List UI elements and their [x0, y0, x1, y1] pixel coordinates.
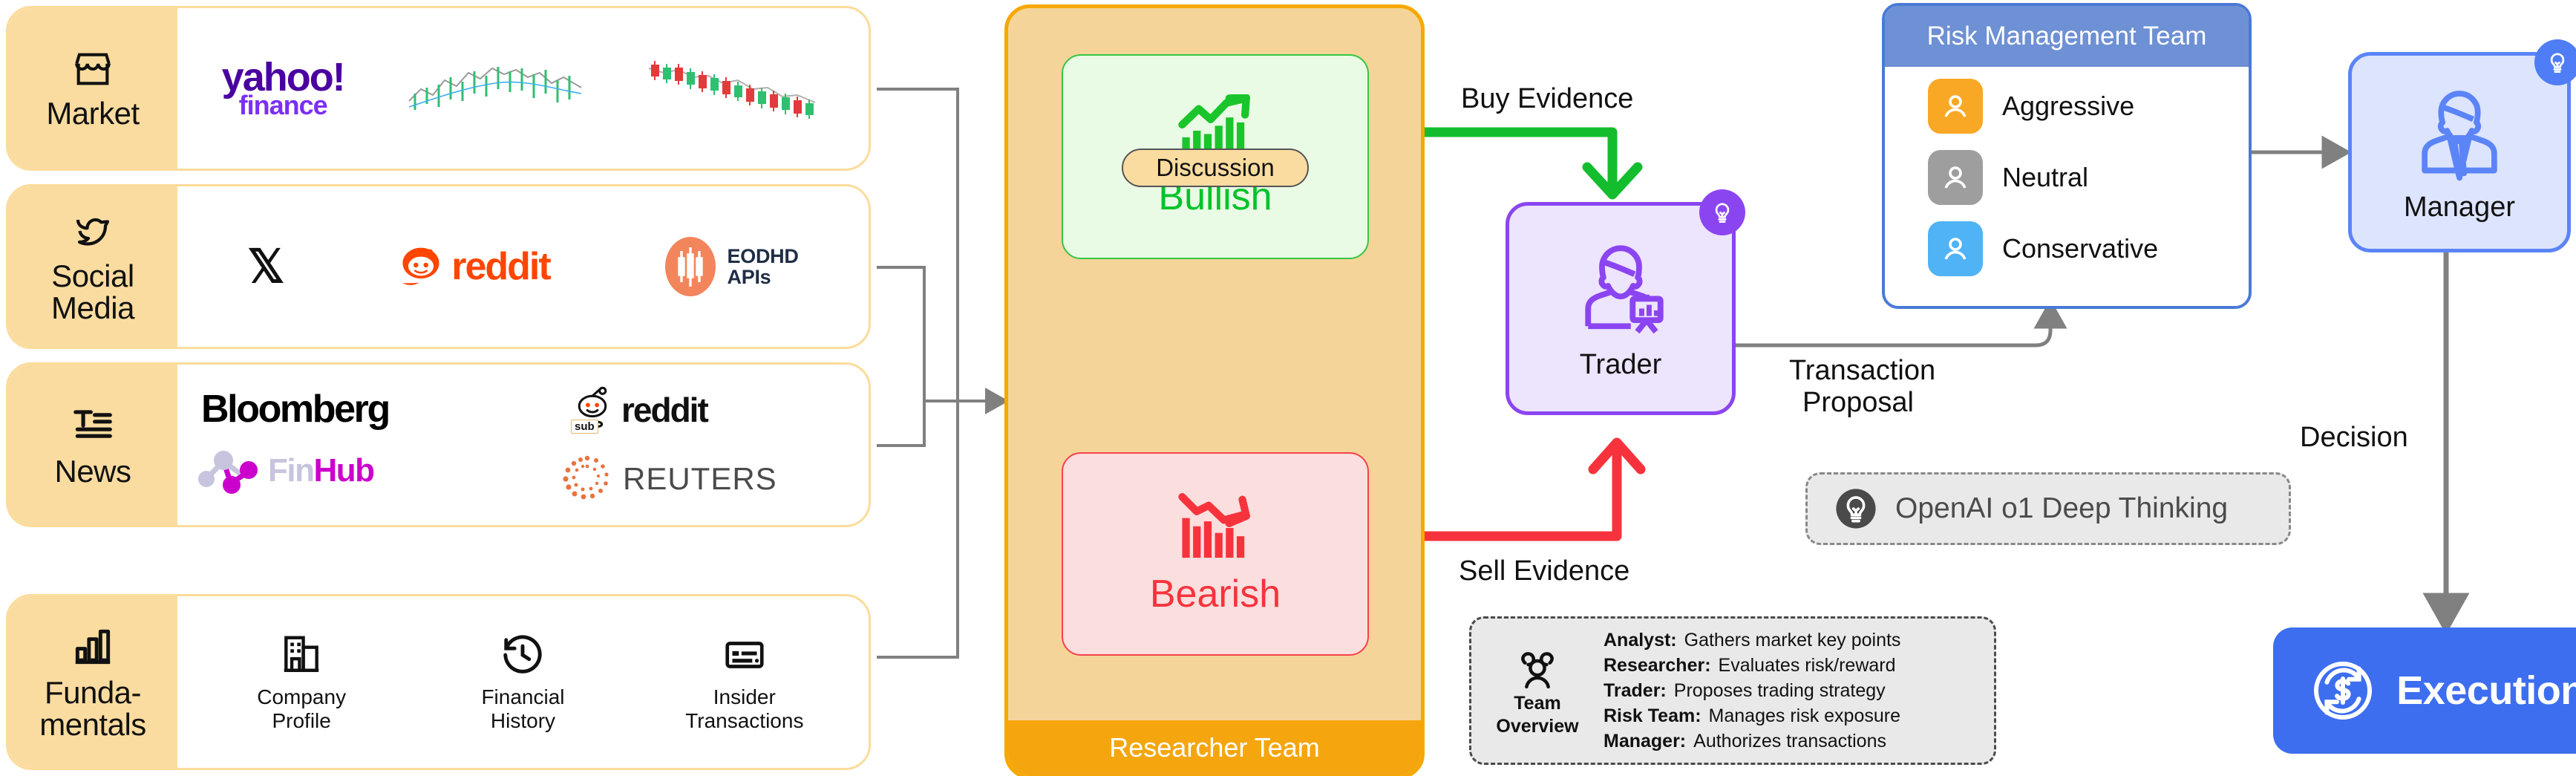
lightbulb-glyph	[1708, 198, 1736, 226]
risk-team-header: Risk Management Team	[1885, 6, 2249, 67]
company-profile-tile[interactable]: Company Profile	[209, 632, 394, 732]
risk-team-title: Risk Management Team	[1927, 22, 2207, 51]
dollar-refresh-icon	[2307, 655, 2379, 726]
person-glyph	[1938, 160, 1973, 195]
insider-transactions-tile[interactable]: Insider Transactions	[652, 632, 837, 732]
team-overview-line2: Overview	[1496, 717, 1578, 737]
person-glyph	[1938, 88, 1973, 124]
trader-avatar-icon	[1565, 236, 1676, 348]
person-icon	[1928, 221, 1983, 276]
eodhd-mark-icon	[664, 235, 717, 299]
source-row-fundamentals[interactable]: Funda- mentals Company Profile	[6, 594, 871, 770]
diagram-canvas: Market yahoo! finance	[0, 0, 2576, 776]
trader-label: Trader	[1580, 349, 1662, 381]
bird-icon	[66, 209, 120, 253]
researcher-team-panel[interactable]: Bullish Discussion Bearish Researcher Te…	[1004, 4, 1425, 776]
subreddit-sub-tag: sub	[571, 420, 598, 434]
risk-member-neutral[interactable]: Neutral	[1928, 150, 2249, 205]
bloomberg-logo[interactable]: Bloomberg	[201, 387, 389, 431]
manager-avatar-icon	[2405, 82, 2514, 192]
trader-card[interactable]: Trader	[1506, 202, 1736, 415]
role: Risk Team:	[1604, 704, 1701, 728]
financial-history-tile[interactable]: Financial History	[430, 632, 615, 732]
candlestick-chart-thumbnail	[646, 55, 824, 122]
lightbulb-icon	[2534, 39, 2576, 85]
people-group-icon	[1510, 645, 1565, 691]
subreddit-wordmark: reddit	[621, 390, 707, 430]
reuters-dots-icon	[562, 454, 612, 504]
execution-label: Execution	[2396, 668, 2576, 714]
bearish-label: Bearish	[1150, 572, 1281, 616]
bar-chart-icon	[66, 624, 120, 670]
trend-down-icon	[1174, 492, 1256, 564]
source-items-market: yahoo! finance	[177, 8, 869, 169]
manager-card[interactable]: Manager	[2348, 52, 2571, 252]
finhub-wordmark-fin: Fin	[268, 452, 313, 489]
reuters-wordmark: REUTERS	[623, 461, 777, 497]
line-chart-thumbnail	[406, 55, 584, 122]
role-desc: Gathers market key points	[1684, 628, 1901, 652]
source-row-market[interactable]: Market yahoo! finance	[6, 6, 871, 171]
role-desc: Proposes trading strategy	[1674, 679, 1886, 702]
source-label-social-media: Social Media	[8, 186, 177, 347]
role-desc: Authorizes transactions	[1693, 729, 1886, 753]
finhub-wordmark-hub: Hub	[313, 452, 373, 489]
source-label-text: Market	[46, 98, 139, 130]
news-article-icon	[66, 402, 120, 449]
person-icon	[1928, 150, 1983, 205]
eodhd-wordmark: EODHD APIs	[728, 246, 799, 288]
edge-label-sell-evidence: Sell Evidence	[1459, 555, 1629, 587]
reddit-logo[interactable]: reddit	[398, 244, 549, 290]
finhub-logo[interactable]: Fin Hub	[197, 446, 374, 495]
team-overview-legend: Team Overview Analyst: Gathers market ke…	[1469, 616, 1996, 765]
source-items-fundamentals: Company Profile Financial History	[177, 596, 869, 768]
eodhd-apis-logo[interactable]: EODHD APIs	[664, 235, 799, 299]
discussion-label: Discussion	[1156, 154, 1275, 182]
edge-label-decision: Decision	[2300, 422, 2408, 454]
openai-badge-label: OpenAI o1 Deep Thinking	[1895, 492, 2228, 525]
source-row-news[interactable]: News Bloomberg sub	[6, 362, 871, 527]
finhub-network-icon	[197, 446, 261, 495]
edge-label-transaction-proposal: Transaction Proposal	[1789, 355, 1935, 418]
risk-member-label: Aggressive	[2002, 91, 2134, 122]
tile-caption: Company Profile	[257, 685, 346, 732]
discussion-chip[interactable]: Discussion	[1122, 149, 1309, 187]
yahoo-finance-logo[interactable]: yahoo! finance	[222, 59, 344, 118]
risk-team-members: Aggressive Neutral Conservative	[1885, 67, 2249, 276]
role-desc: Evaluates risk/reward	[1719, 653, 1896, 677]
reddit-mascot-icon	[398, 244, 444, 290]
source-label-text: Social Media	[51, 261, 134, 325]
bearish-card[interactable]: Bearish	[1062, 452, 1369, 656]
role: Analyst:	[1604, 628, 1677, 652]
team-overview-row: Manager: Authorizes transactions	[1604, 729, 1987, 753]
storefront-icon	[67, 48, 119, 91]
risk-member-conservative[interactable]: Conservative	[1928, 221, 2249, 276]
source-label-fundamentals: Funda- mentals	[8, 596, 177, 768]
researcher-team-footer: Researcher Team	[1008, 720, 1421, 775]
openai-deep-thinking-badge[interactable]: OpenAI o1 Deep Thinking	[1805, 472, 2291, 545]
team-overview-row: Researcher: Evaluates risk/reward	[1604, 653, 1987, 677]
risk-member-aggressive[interactable]: Aggressive	[1928, 79, 2249, 134]
reddit-wordmark: reddit	[451, 244, 549, 289]
source-label-text: News	[54, 456, 131, 488]
manager-label: Manager	[2404, 192, 2515, 224]
transaction-card-icon	[722, 632, 768, 678]
risk-member-label: Conservative	[2002, 233, 2158, 264]
source-items-news: Bloomberg sub redd	[177, 365, 869, 525]
office-building-icon	[278, 632, 324, 678]
source-label-market: Market	[8, 8, 177, 169]
lightbulb-glyph	[2543, 48, 2572, 76]
team-overview-rows: Analyst: Gathers market key points Resea…	[1604, 628, 1994, 753]
reuters-logo[interactable]: REUTERS	[562, 454, 777, 504]
team-overview-caption: Team Overview	[1471, 645, 1604, 737]
edge-label-buy-evidence: Buy Evidence	[1461, 83, 1633, 115]
role-desc: Manages risk exposure	[1709, 704, 1900, 728]
tile-caption: Financial History	[481, 685, 564, 732]
lightbulb-icon	[1699, 189, 1745, 235]
role: Trader:	[1604, 679, 1667, 702]
person-icon	[1928, 79, 1983, 134]
team-overview-row: Analyst: Gathers market key points	[1604, 628, 1987, 652]
risk-management-team-panel[interactable]: Risk Management Team Aggressive Neutral	[1882, 3, 2252, 309]
subreddit-logo[interactable]: sub reddit	[569, 385, 707, 434]
role: Manager:	[1604, 729, 1686, 753]
history-clock-icon	[500, 632, 546, 678]
x-twitter-logo[interactable]: 𝕏	[247, 239, 284, 294]
team-overview-row: Risk Team: Manages risk exposure	[1604, 704, 1987, 728]
execution-card[interactable]: Execution	[2273, 627, 2576, 754]
role: Researcher:	[1604, 653, 1711, 677]
team-overview-row: Trader: Proposes trading strategy	[1604, 679, 1987, 702]
tile-caption: Insider Transactions	[685, 685, 803, 732]
person-glyph	[1938, 231, 1973, 267]
lightbulb-icon	[1834, 487, 1877, 530]
source-label-news: News	[8, 365, 177, 525]
researcher-team-label: Researcher Team	[1109, 732, 1319, 763]
team-overview-line1: Team	[1514, 694, 1560, 714]
source-row-social-media[interactable]: Social Media 𝕏 reddit	[6, 184, 871, 349]
source-label-text: Funda- mentals	[39, 677, 146, 741]
source-items-social-media: 𝕏 reddit	[177, 186, 869, 347]
risk-member-label: Neutral	[2002, 162, 2088, 193]
